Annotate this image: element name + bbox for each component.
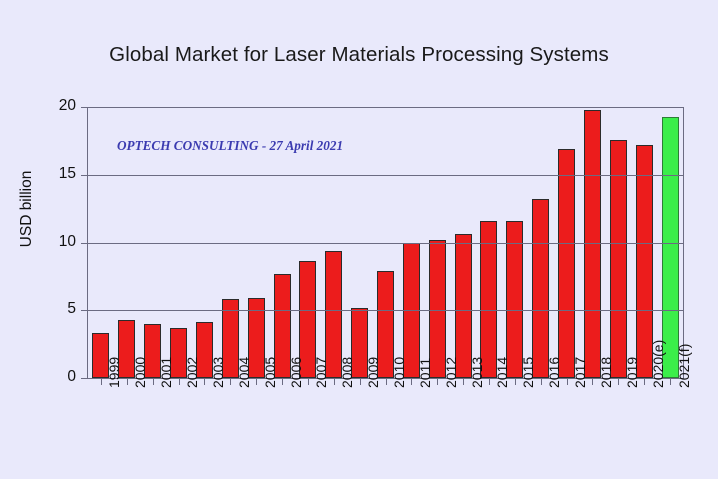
- x-tick-mark: [179, 379, 180, 385]
- x-tick-label: 2011: [417, 358, 433, 388]
- x-tick-mark: [334, 379, 335, 385]
- x-tick-mark: [567, 379, 568, 385]
- x-tick-mark: [463, 379, 464, 385]
- y-tick-label: 20: [36, 97, 76, 115]
- x-tick-mark: [489, 379, 490, 385]
- chart-title: Global Market for Laser Materials Proces…: [0, 43, 718, 67]
- x-tick-label: 2016: [546, 357, 562, 388]
- x-tick-mark: [256, 379, 257, 385]
- x-tick-label: 2003: [210, 357, 226, 388]
- x-tick-mark: [386, 379, 387, 385]
- x-tick-label: 2000: [132, 357, 148, 388]
- x-tick-label: 2006: [288, 357, 304, 388]
- x-tick-label: 2018: [598, 357, 614, 388]
- x-tick-mark: [127, 379, 128, 385]
- y-tick-label: 10: [36, 233, 76, 251]
- x-tick-mark: [308, 379, 309, 385]
- y-tick-mark-right: [676, 175, 683, 176]
- x-tick-mark: [515, 379, 516, 385]
- y-tick-mark-right: [676, 107, 683, 108]
- gridline: [88, 175, 683, 176]
- x-tick-mark: [541, 379, 542, 385]
- bar: [532, 199, 549, 378]
- x-tick-mark: [592, 379, 593, 385]
- y-tick-mark: [81, 378, 88, 379]
- x-tick-mark: [101, 379, 102, 385]
- x-tick-label: 2008: [339, 357, 355, 388]
- y-tick-label: 15: [36, 165, 76, 183]
- bar: [480, 221, 497, 378]
- bar: [506, 221, 523, 378]
- x-tick-mark: [618, 379, 619, 385]
- bar: [558, 149, 575, 378]
- x-tick-label: 1999: [106, 357, 122, 388]
- x-tick-label: 2014: [494, 357, 510, 388]
- y-axis-title: USD billion: [18, 119, 36, 299]
- x-tick-label: 2019: [624, 357, 640, 388]
- right-axis-line: [683, 107, 684, 379]
- x-tick-label: 2009: [365, 357, 381, 388]
- x-tick-mark: [230, 379, 231, 385]
- y-tick-mark-right: [676, 310, 683, 311]
- y-tick-mark: [81, 175, 88, 176]
- x-tick-mark: [411, 379, 412, 385]
- x-tick-label: 2012: [443, 357, 459, 388]
- y-tick-mark: [81, 310, 88, 311]
- x-tick-mark: [437, 379, 438, 385]
- gridline: [88, 243, 683, 244]
- x-tick-mark: [644, 379, 645, 385]
- x-tick-label: 2005: [262, 357, 278, 388]
- x-tick-label: 2002: [184, 357, 200, 388]
- x-tick-mark: [360, 379, 361, 385]
- y-tick-mark: [81, 107, 88, 108]
- x-tick-label: 2021(f): [676, 344, 692, 388]
- x-tick-label: 2020(e): [650, 340, 666, 388]
- gridline: [88, 310, 683, 311]
- y-tick-mark-right: [676, 243, 683, 244]
- x-tick-label: 2004: [236, 357, 252, 388]
- x-tick-mark: [204, 379, 205, 385]
- x-tick-mark: [153, 379, 154, 385]
- y-tick-label: 0: [36, 368, 76, 386]
- x-tick-label: 2007: [313, 357, 329, 388]
- x-tick-label: 2010: [391, 357, 407, 388]
- x-tick-label: 2015: [520, 357, 536, 388]
- y-tick-label: 5: [36, 300, 76, 318]
- x-tick-mark: [282, 379, 283, 385]
- x-tick-label: 2017: [572, 357, 588, 388]
- x-tick-label: 2013: [469, 357, 485, 388]
- y-tick-mark: [81, 243, 88, 244]
- x-tick-mark: [670, 379, 671, 385]
- chart-figure: Global Market for Laser Materials Proces…: [0, 0, 718, 479]
- gridline: [88, 107, 683, 108]
- x-tick-label: 2001: [158, 357, 174, 388]
